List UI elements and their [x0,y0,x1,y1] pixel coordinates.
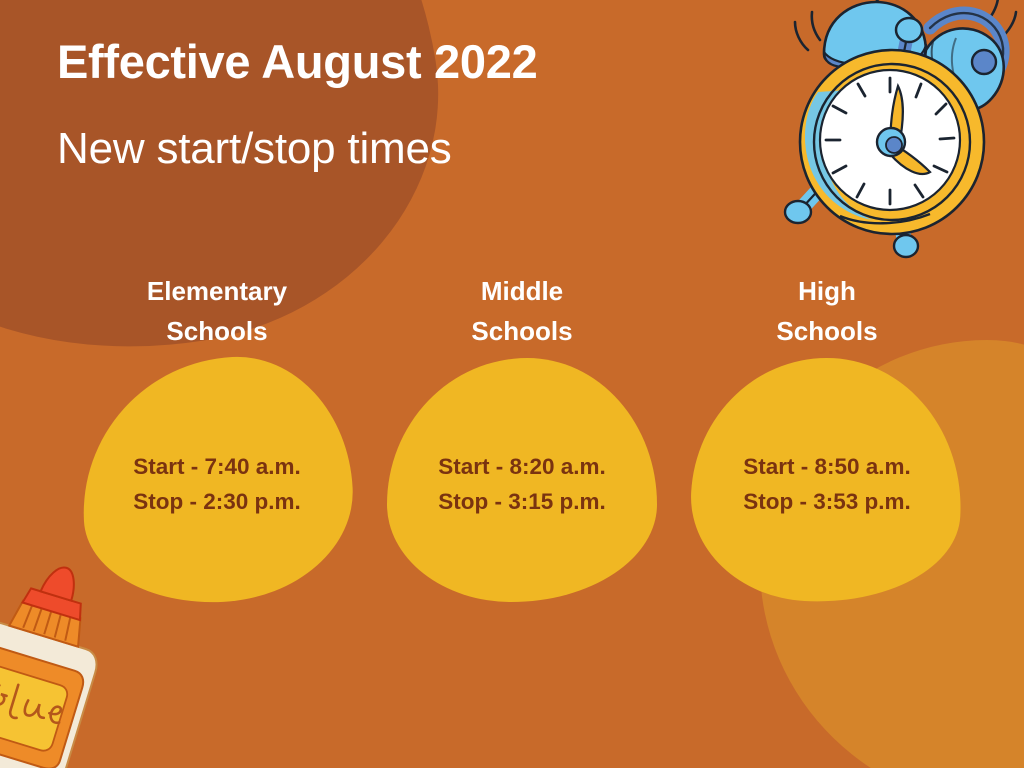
times-elementary: Start - 7:40 a.m. Stop - 2:30 p.m. [82,450,352,520]
times-high: Start - 8:50 a.m. Stop - 3:53 p.m. [692,450,962,520]
stop-time-high: Stop - 3:53 p.m. [692,485,962,520]
blob-container-elementary: Start - 7:40 a.m. Stop - 2:30 p.m. [82,358,352,602]
times-middle: Start - 8:20 a.m. Stop - 3:15 p.m. [387,450,657,520]
schedule-column-high: High Schools Start - 8:50 a.m. Stop - 3:… [692,272,962,612]
page-title: Effective August 2022 [57,34,537,89]
start-time-middle: Start - 8:20 a.m. [387,450,657,485]
page-subtitle: New start/stop times [57,124,452,174]
blob-container-middle: Start - 8:20 a.m. Stop - 3:15 p.m. [387,358,657,602]
stop-time-elementary: Stop - 2:30 p.m. [82,485,352,520]
schedule-column-middle: Middle Schools Start - 8:20 a.m. Stop - … [387,272,657,612]
start-time-elementary: Start - 7:40 a.m. [82,450,352,485]
alarm-clock-icon [780,0,1024,260]
start-time-high: Start - 8:50 a.m. [692,450,962,485]
column-header-elementary: Elementary Schools [147,272,287,351]
column-header-middle: Middle Schools [471,272,572,351]
column-header-high: High Schools [776,272,877,351]
stop-time-middle: Stop - 3:15 p.m. [387,485,657,520]
schedule-columns: Elementary Schools Start - 7:40 a.m. Sto… [82,272,962,612]
slide-canvas: Effective August 2022 New start/stop tim… [0,0,1024,768]
schedule-column-elementary: Elementary Schools Start - 7:40 a.m. Sto… [82,272,352,612]
blob-container-high: Start - 8:50 a.m. Stop - 3:53 p.m. [692,358,962,602]
